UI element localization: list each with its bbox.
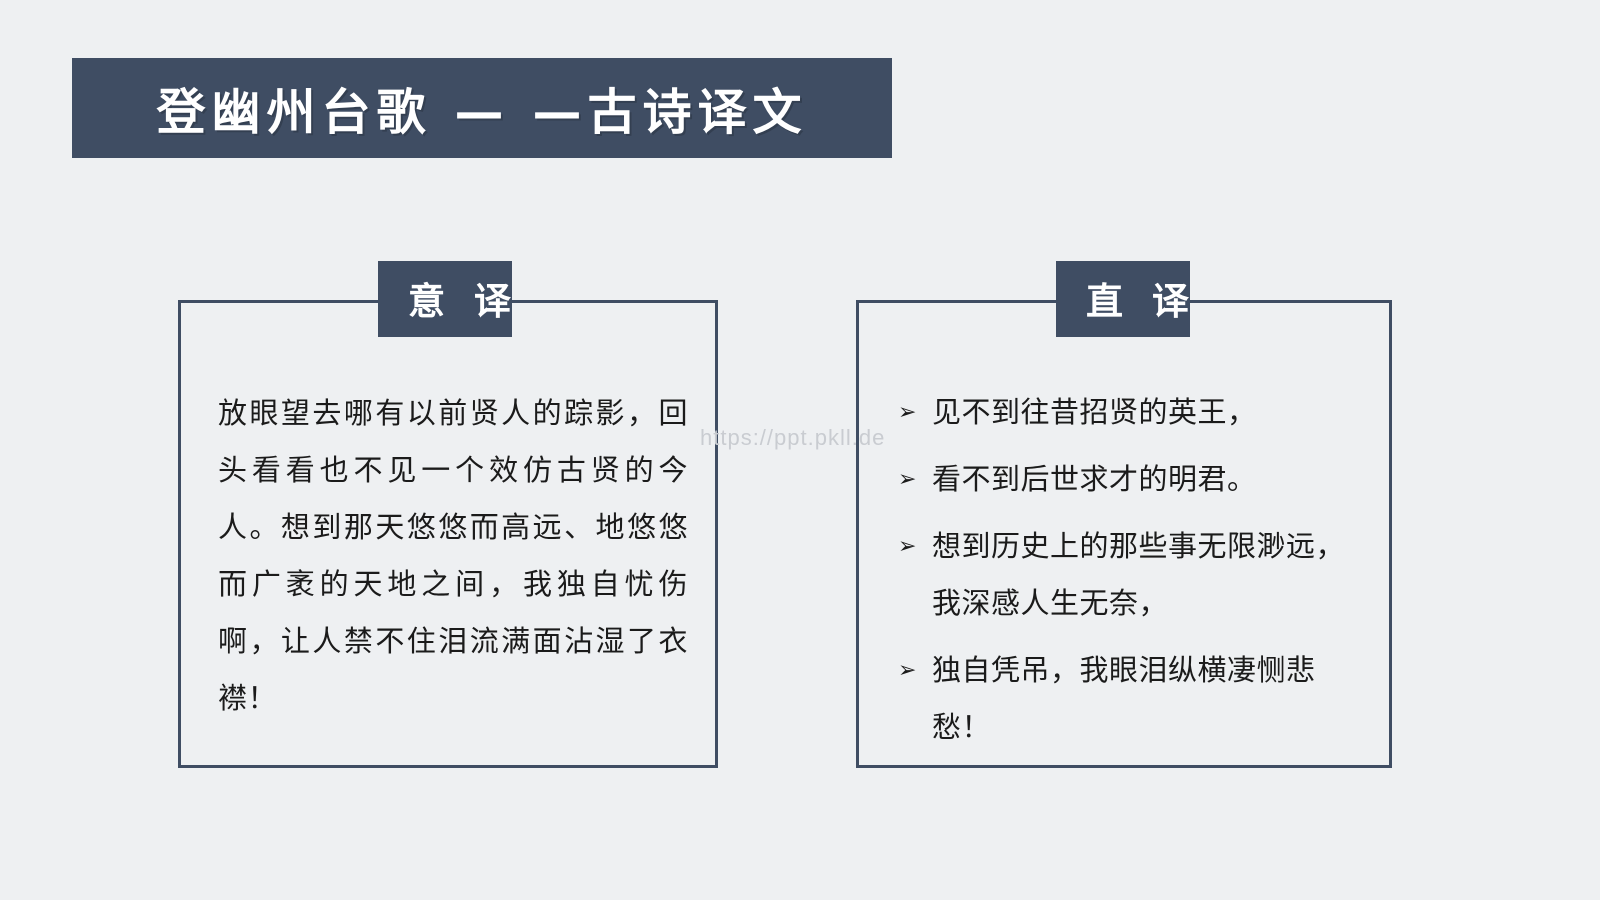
chevron-right-bullet-icon: ➢: [898, 451, 932, 508]
list-item-text: 想到历史上的那些事无限渺远，我深感人生无奈，: [932, 518, 1358, 632]
free-translation-paragraph: 放眼望去哪有以前贤人的踪影，回头看看也不见一个效仿古贤的今人。想到那天悠悠而高远…: [218, 385, 688, 727]
chevron-right-bullet-icon: ➢: [898, 384, 932, 441]
list-item: ➢ 独自凭吊，我眼泪纵横凄恻悲愁！: [898, 642, 1358, 756]
panel-label-free-translation: 意 译: [378, 261, 512, 337]
list-item: ➢ 想到历史上的那些事无限渺远，我深感人生无奈，: [898, 518, 1358, 632]
list-item-text: 见不到往昔招贤的英王，: [932, 384, 1358, 441]
list-item-text: 独自凭吊，我眼泪纵横凄恻悲愁！: [932, 642, 1358, 756]
chevron-right-bullet-icon: ➢: [898, 518, 932, 575]
page-title: 登幽州台歌 — —古诗译文: [156, 73, 807, 144]
list-item: ➢ 见不到往昔招贤的英王，: [898, 384, 1358, 441]
literal-translation-list: ➢ 见不到往昔招贤的英王， ➢ 看不到后世求才的明君。 ➢ 想到历史上的那些事无…: [898, 384, 1358, 766]
list-item-text: 看不到后世求才的明君。: [932, 451, 1358, 508]
panel-label-literal-translation: 直 译: [1056, 261, 1190, 337]
slide-canvas: 登幽州台歌 — —古诗译文 意 译 放眼望去哪有以前贤人的踪影，回头看看也不见一…: [0, 0, 1600, 900]
chevron-right-bullet-icon: ➢: [898, 642, 932, 699]
title-banner: 登幽州台歌 — —古诗译文: [72, 58, 892, 158]
list-item: ➢ 看不到后世求才的明君。: [898, 451, 1358, 508]
